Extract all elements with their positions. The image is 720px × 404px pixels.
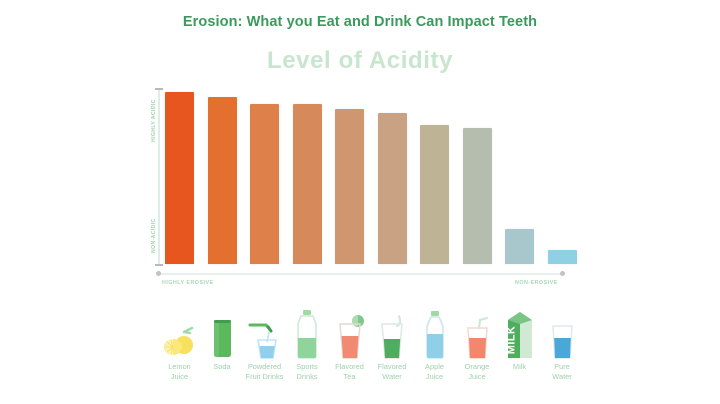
svg-text:MILK: MILK: [505, 326, 517, 354]
category-label-line2: Juice: [449, 372, 505, 382]
category-labels: LemonJuiceSodaPowderedFruit DrinksSports…: [0, 362, 720, 398]
flavored-water-glass-icon: [371, 300, 413, 360]
category-label-line2: Water: [534, 372, 590, 382]
iced-tea-glass-icon: [329, 300, 371, 360]
milk-carton-icon: MILK: [499, 300, 541, 360]
category-label-line1: Flavored: [335, 362, 364, 371]
category-label-line1: Orange: [465, 362, 490, 371]
category-label-pure-water: PureWater: [534, 362, 590, 382]
bar-pure-water: [548, 250, 577, 264]
powder-pour-cup-icon: [244, 300, 286, 360]
bar-lemon-juice: [165, 92, 194, 264]
bar-powdered-fruit-drinks: [250, 104, 279, 264]
orange-juice-glass-icon: [456, 300, 498, 360]
bar-milk: [505, 229, 534, 264]
bar-apple-juice: [420, 125, 449, 264]
bar-orange-juice: [463, 128, 492, 264]
bar-flavored-tea: [335, 109, 364, 264]
category-label-line1: Flavored: [378, 362, 407, 371]
bar-sports-drinks: [293, 104, 322, 264]
category-label-line1: Powdered: [248, 362, 281, 371]
bar-flavored-water: [378, 113, 407, 264]
erosion-acidity-infographic: Erosion: What you Eat and Drink Can Impa…: [0, 0, 720, 404]
lemon-with-straw-icon: [159, 300, 201, 360]
category-label-line1: Sports: [296, 362, 317, 371]
category-label-line1: Milk: [513, 362, 526, 371]
sports-bottle-icon: [286, 300, 328, 360]
category-label-line2: Juice: [152, 372, 208, 382]
category-label-line1: Soda: [213, 362, 230, 371]
water-glass-icon: [541, 300, 583, 360]
category-label-line1: Apple: [425, 362, 444, 371]
icon-row: MILK: [0, 296, 720, 360]
soda-can-icon: [201, 300, 243, 360]
category-label-line1: Pure: [554, 362, 570, 371]
bar-soda: [208, 97, 237, 264]
category-label-line1: Lemon: [168, 362, 191, 371]
apple-juice-bottle-icon: [414, 300, 456, 360]
